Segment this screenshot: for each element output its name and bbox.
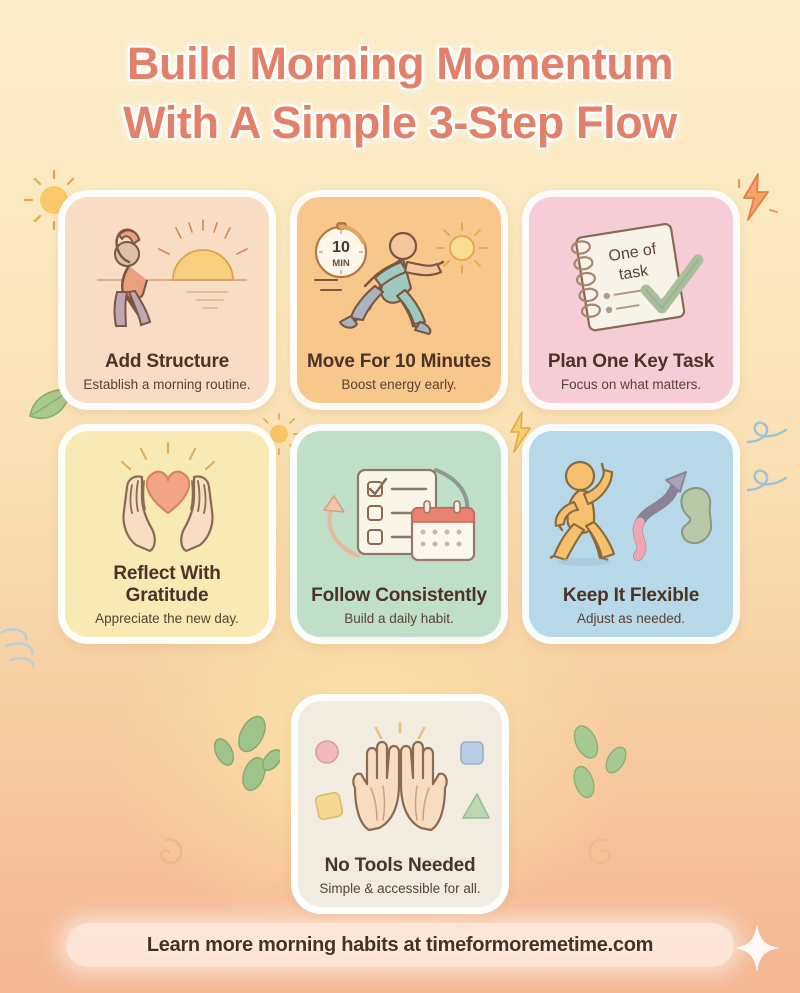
sparkle-icon — [730, 918, 784, 978]
page-title: Build Morning Momentum With A Simple 3-S… — [0, 34, 800, 153]
card-text: Add Structure Establish a morning routin… — [65, 351, 269, 403]
footer-banner: Learn more morning habits at timeformore… — [66, 923, 734, 967]
title-line-1: Build Morning Momentum — [0, 34, 800, 93]
dancing-person-squiggle-arrow-icon — [529, 431, 733, 585]
card-text: Plan One Key Task Focus on what matters. — [529, 351, 733, 403]
card-title: Reflect With Gratitude — [71, 563, 263, 607]
card-subtitle: Focus on what matters. — [535, 377, 727, 393]
card-plan-one-key-task[interactable]: One of task Plan One Key Task — [522, 190, 740, 410]
card-follow-consistently[interactable]: Follow Consistently Build a daily habit. — [290, 424, 508, 644]
running-person-timer-icon: 10 MIN — [297, 197, 501, 351]
steps-grid: Add Structure Establish a morning routin… — [58, 190, 742, 914]
card-text: Reflect With Gratitude Appreciate the ne… — [65, 563, 269, 637]
card-subtitle: Establish a morning routine. — [71, 377, 263, 393]
card-subtitle: Appreciate the new day. — [71, 611, 263, 627]
card-text: Move For 10 Minutes Boost energy early. — [297, 351, 501, 403]
wind-swirl-icon-2 — [0, 616, 50, 676]
card-no-tools-needed[interactable]: No Tools Needed Simple & accessible for … — [291, 694, 509, 914]
stretching-person-sunrise-icon — [65, 197, 269, 351]
card-subtitle: Adjust as needed. — [535, 611, 727, 627]
card-subtitle: Build a daily habit. — [303, 611, 495, 627]
card-title: No Tools Needed — [304, 855, 496, 877]
svg-text:MIN: MIN — [332, 258, 350, 269]
card-title: Add Structure — [71, 351, 263, 373]
card-text: Follow Consistently Build a daily habit. — [297, 585, 501, 637]
card-add-structure[interactable]: Add Structure Establish a morning routin… — [58, 190, 276, 410]
card-subtitle: Boost energy early. — [303, 377, 495, 393]
checklist-calendar-cycle-icon — [297, 431, 501, 585]
card-reflect-with-gratitude[interactable]: Reflect With Gratitude Appreciate the ne… — [58, 424, 276, 644]
wind-swirl-icon — [742, 412, 800, 532]
hands-holding-heart-icon — [65, 431, 269, 563]
card-subtitle: Simple & accessible for all. — [304, 881, 496, 897]
card-title: Follow Consistently — [303, 585, 495, 607]
card-text: No Tools Needed Simple & accessible for … — [298, 855, 502, 907]
svg-text:10: 10 — [332, 239, 350, 256]
card-keep-it-flexible[interactable]: Keep It Flexible Adjust as needed. — [522, 424, 740, 644]
card-move-for-10-minutes[interactable]: 10 MIN — [290, 190, 508, 410]
title-line-2: With A Simple 3-Step Flow — [0, 93, 800, 152]
card-title: Plan One Key Task — [535, 351, 727, 373]
open-hands-shapes-icon — [298, 701, 502, 855]
footer-text[interactable]: Learn more morning habits at timeformore… — [147, 934, 653, 957]
card-text: Keep It Flexible Adjust as needed. — [529, 585, 733, 637]
infographic-canvas: Build Morning Momentum With A Simple 3-S… — [0, 0, 800, 993]
notepad-checkmark-icon: One of task — [529, 197, 733, 351]
card-title: Move For 10 Minutes — [303, 351, 495, 373]
card-title: Keep It Flexible — [535, 585, 727, 607]
